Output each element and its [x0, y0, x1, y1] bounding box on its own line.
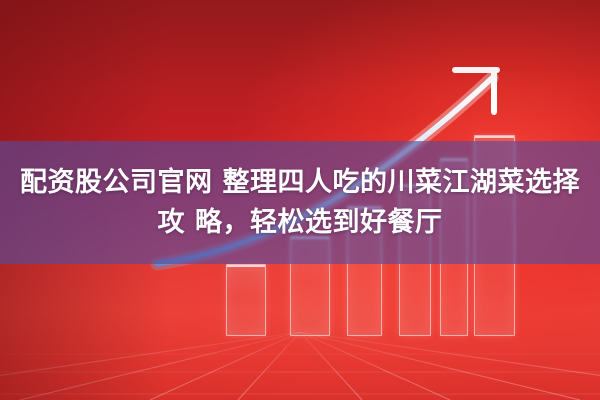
headline-band: 配资股公司官网 整理四人吃的川菜江湖菜选择攻 略，轻松选到好餐厅	[0, 141, 600, 264]
page-title-line-2: 略，轻松选到好餐厅	[195, 207, 443, 238]
page-title: 配资股公司官网 整理四人吃的川菜江湖菜选择攻 略，轻松选到好餐厅	[12, 163, 588, 242]
perspective-floor-grid	[0, 332, 600, 400]
promo-banner: 配资股公司官网 整理四人吃的川菜江湖菜选择攻 略，轻松选到好餐厅	[0, 0, 600, 400]
